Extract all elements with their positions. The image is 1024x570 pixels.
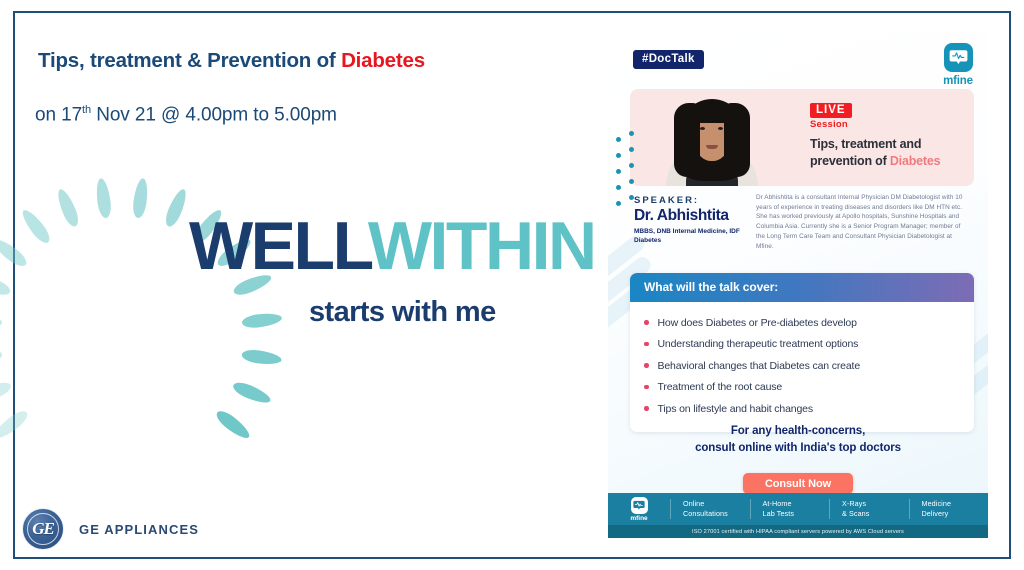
speaker-block: SPEAKER: Dr. Abhishtita MBBS, DNB Intern… — [634, 195, 744, 245]
bullet-icon — [644, 406, 649, 411]
wellwithin-wordmark: WELLWITHIN — [189, 212, 595, 280]
petal-shape — [0, 271, 12, 298]
consult-now-button[interactable]: Consult Now — [743, 473, 853, 494]
decorative-dot — [616, 185, 621, 190]
mfine-event-flyer: #DocTalk mfine — [608, 33, 988, 538]
live-session-label: Session — [810, 119, 848, 130]
decorative-dot — [616, 153, 621, 158]
live-badge: LIVE — [810, 103, 852, 118]
petal-shape — [241, 311, 282, 329]
photo-eye — [718, 127, 723, 130]
datetime-ordinal: th — [82, 104, 91, 116]
ge-monogram-letters: GE — [22, 508, 64, 550]
list-item: Behavioral changes that Diabetes can cre… — [644, 355, 960, 377]
footer-service-item[interactable]: At-HomeLab Tests — [750, 499, 830, 520]
list-item-label: Behavioral changes that Diabetes can cre… — [658, 360, 861, 373]
list-item: Tips on lifestyle and habit changes — [644, 398, 960, 420]
speaker-name: Dr. Abhishtita — [634, 207, 744, 225]
petal-shape — [162, 187, 189, 229]
headline-highlight-text: Diabetes — [341, 49, 425, 72]
speaker-label: SPEAKER: — [634, 195, 744, 206]
talk-cover-heading: What will the talk cover: — [630, 273, 974, 302]
hero-title: Tips, treatment and prevention of Diabet… — [810, 136, 970, 169]
decorative-dot — [629, 147, 634, 152]
footer-service-item[interactable]: OnlineConsultations — [670, 499, 750, 520]
petal-shape — [0, 379, 13, 407]
datetime-prefix: on 17 — [35, 104, 82, 125]
bullet-icon — [644, 342, 649, 347]
presentation-slide: Tips, treatment & Prevention of Diabetes… — [0, 0, 1024, 570]
petal-shape — [241, 348, 282, 366]
petal-shape — [94, 178, 112, 219]
petal-shape — [0, 407, 31, 442]
wordmark-within: WITHIN — [368, 208, 595, 284]
ge-brand-text: GE APPLIANCES — [79, 522, 199, 537]
decorative-dot — [629, 131, 634, 136]
decorative-dot — [616, 201, 621, 206]
petal-shape — [0, 235, 30, 270]
speaker-credentials: MBBS, DNB Internal Medicine, IDF Diabete… — [634, 227, 744, 245]
left-content-panel: Tips, treatment & Prevention of Diabetes… — [0, 0, 600, 570]
bullet-icon — [644, 320, 649, 325]
list-item-label: How does Diabetes or Pre-diabetes develo… — [658, 317, 857, 330]
page-title: Tips, treatment & Prevention of Diabetes — [38, 49, 425, 73]
footer-mfine-text: mfine — [608, 515, 670, 522]
footer-services-row: mfine OnlineConsultationsAt-HomeLab Test… — [608, 493, 988, 525]
ge-appliances-logo: GE GE APPLIANCES — [22, 508, 282, 554]
cta-line-1: For any health-concerns, — [731, 425, 865, 437]
footer-service-item[interactable]: MedicineDelivery — [909, 499, 989, 520]
wellwithin-logo: WELLWITHIN starts with me — [34, 168, 534, 358]
list-item: Understanding therapeutic treatment opti… — [644, 334, 960, 356]
photo-fringe — [688, 103, 736, 123]
petal-shape — [0, 348, 3, 366]
mfine-brand-text: mfine — [930, 75, 986, 87]
list-item-label: Tips on lifestyle and habit changes — [658, 403, 813, 416]
sunburst-petals-icon — [34, 168, 210, 358]
talk-cover-card: What will the talk cover: How does Diabe… — [630, 273, 974, 432]
bullet-icon — [644, 385, 649, 390]
mfine-pulse-icon — [631, 497, 648, 514]
petal-shape — [19, 207, 54, 247]
headline-main-text: Tips, treatment & Prevention of — [38, 49, 341, 72]
datetime-suffix: Nov 21 @ 4.00pm to 5.00pm — [91, 104, 337, 125]
wordmark-well: WELL — [189, 208, 368, 284]
list-item-label: Understanding therapeutic treatment opti… — [658, 338, 859, 351]
list-item-label: Treatment of the root cause — [658, 381, 783, 394]
mfine-logo-header: mfine — [930, 43, 986, 87]
cta-text: For any health-concerns, consult online … — [608, 423, 988, 456]
footer-service-item[interactable]: X-Rays& Scans — [829, 499, 909, 520]
flyer-footer: mfine OnlineConsultationsAt-HomeLab Test… — [608, 493, 988, 538]
speaker-bio: Dr Abhishtita is a consultant Internal P… — [756, 193, 968, 251]
bullet-icon — [644, 363, 649, 368]
cta-line-2: consult online with India's top doctors — [695, 442, 901, 454]
certification-strip: ISO 27001 certified with HIPAA compliant… — [608, 525, 988, 538]
list-item: Treatment of the root cause — [644, 377, 960, 399]
petal-shape — [131, 178, 149, 219]
petal-shape — [213, 407, 253, 442]
petal-shape — [0, 311, 3, 329]
list-item: How does Diabetes or Pre-diabetes develo… — [644, 312, 960, 334]
decorative-dot — [629, 163, 634, 168]
decorative-dot — [629, 179, 634, 184]
speaker-photo — [660, 93, 764, 186]
hero-card: LIVE Session Tips, treatment and prevent… — [630, 89, 974, 186]
wellwithin-tagline: starts with me — [309, 296, 496, 329]
petal-shape — [231, 379, 273, 407]
doctalk-badge: #DocTalk — [633, 50, 704, 69]
footer-mfine-logo: mfine — [608, 497, 670, 522]
hero-title-highlight: Diabetes — [890, 154, 941, 168]
mfine-pulse-icon — [944, 43, 973, 72]
petal-shape — [54, 187, 81, 229]
event-datetime: on 17th Nov 21 @ 4.00pm to 5.00pm — [35, 104, 337, 126]
photo-eye — [700, 127, 705, 130]
decorative-dot — [616, 137, 621, 142]
decorative-dot — [616, 169, 621, 174]
talk-cover-list: How does Diabetes or Pre-diabetes develo… — [630, 302, 974, 432]
